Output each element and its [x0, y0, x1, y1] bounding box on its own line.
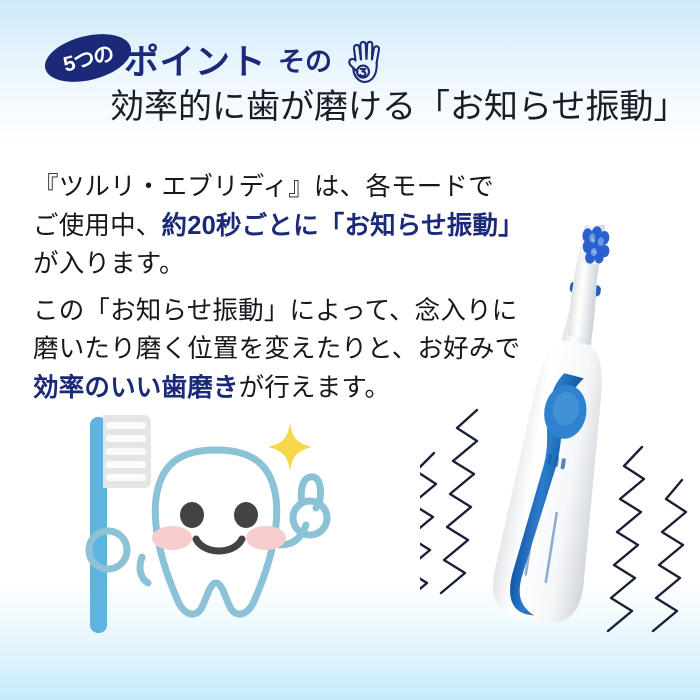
left-blush [152, 526, 192, 550]
body-line-6: 効率のいい歯磨きが行えます。 [33, 369, 553, 408]
body-line-2: ご使用中、約20秒ごとに「お知らせ振動」 [33, 207, 553, 246]
page-subtitle: 効率的に歯が磨ける「お知らせ振動」 [110, 86, 687, 129]
right-eye [234, 502, 258, 528]
body-line-2-plain: ご使用中、 [33, 212, 162, 240]
hand-three-fingers-icon [334, 38, 388, 86]
right-blush [246, 526, 286, 550]
title-row: ポイント その [124, 38, 388, 86]
left-eye [180, 502, 204, 528]
vibration-lines-right [608, 447, 686, 631]
body-line-3: が入ります。 [33, 245, 553, 284]
body-line-6-highlight: 効率のいい歯磨き [33, 374, 239, 402]
body-copy: 『ツルリ・エブリディ』は、各モードで ご使用中、約20秒ごとに「お知らせ振動」 … [33, 168, 553, 407]
body-line-6-plain: が行えます。 [239, 374, 391, 402]
toothbrush-illustration [90, 415, 151, 633]
infographic-page: 5つの ポイント その [0, 0, 700, 700]
paragraph-gap [33, 284, 553, 292]
body-line-5: 磨いたり磨く位置を変えたりと、お好みで [33, 330, 553, 369]
smiling-tooth-mascot-illustration [66, 405, 366, 640]
page-title: ポイント [124, 45, 266, 80]
body-line-1: 『ツルリ・エブリディ』は、各モードで [33, 168, 553, 207]
body-line-2-highlight: 約20秒ごとに「お知らせ振動」 [162, 212, 524, 240]
body-line-4: この「お知らせ振動」によって、念入りに [33, 292, 553, 331]
vibration-lines-left [420, 410, 477, 603]
sparkle-icon [268, 423, 312, 471]
page-title-suffix: その [278, 49, 332, 76]
